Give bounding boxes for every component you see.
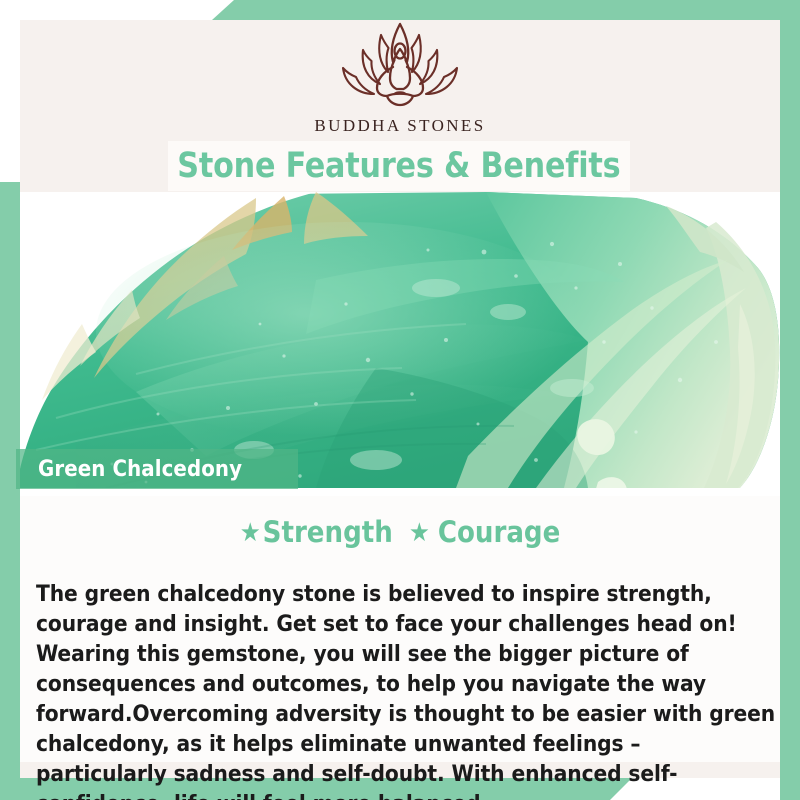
star-icon: ★	[409, 520, 430, 546]
decorative-band-left	[0, 182, 20, 800]
stone-name-text: Green Chalcedony	[16, 457, 242, 482]
description-paragraph: The green chalcedony stone is believed t…	[36, 579, 778, 800]
benefit-courage: ★ Courage	[409, 518, 560, 547]
brand-header: BUDDHA STONES	[0, 20, 800, 150]
decorative-band-top	[212, 0, 800, 20]
stone-name-label: Green Chalcedony	[16, 449, 298, 489]
title-plate: Stone Features & Benefits	[168, 141, 630, 191]
benefits-row: ★ Strength ★ Courage	[0, 518, 800, 547]
brand-wordmark: BUDDHA STONES	[314, 116, 485, 136]
benefit-strength-label: Strength	[263, 518, 393, 547]
benefit-strength: ★ Strength	[240, 518, 393, 547]
lotus-meditation-icon	[325, 20, 475, 112]
infographic-poster: BUDDHA STONES Stone Features & Benefits	[0, 0, 800, 800]
benefit-courage-label: Courage	[438, 518, 561, 547]
page-title: Stone Features & Benefits	[177, 149, 620, 184]
star-icon: ★	[240, 520, 261, 546]
